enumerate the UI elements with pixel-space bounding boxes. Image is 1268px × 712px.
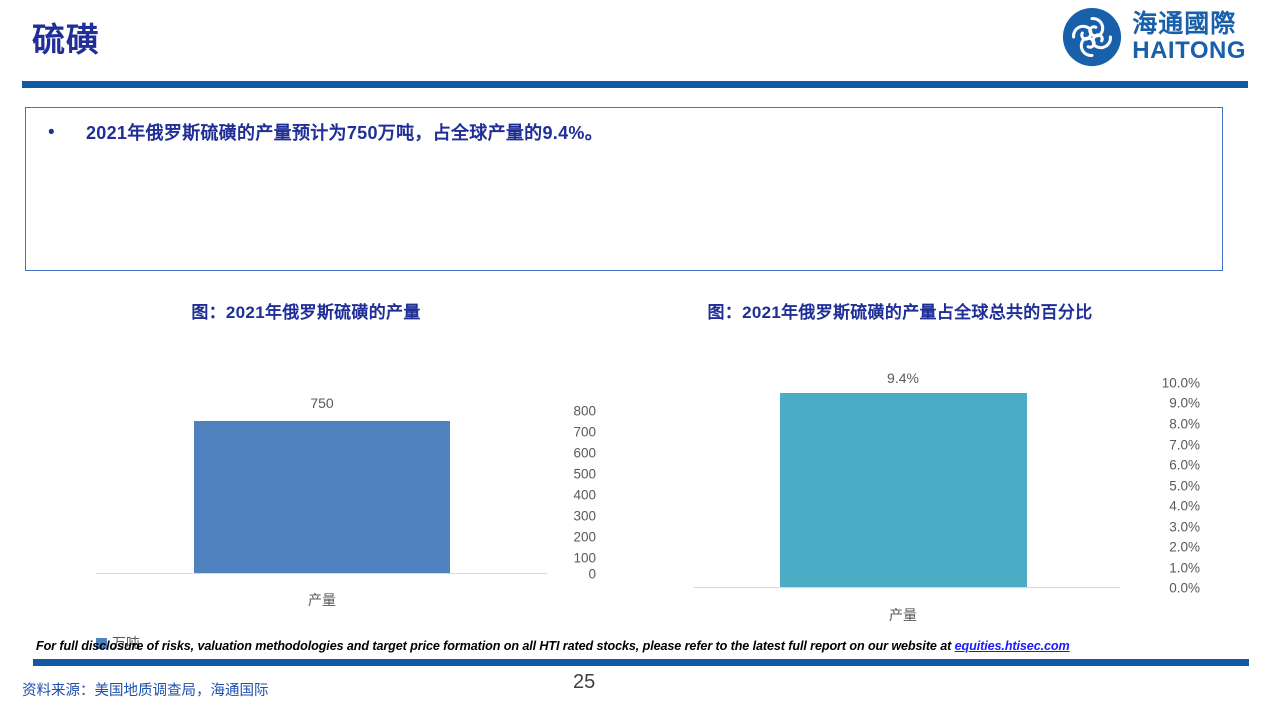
plot-area-global-share: 10.0% 9.0% 8.0% 7.0% 6.0% 5.0% 4.0% 3.0%… [600, 323, 1200, 623]
disclaimer-text: For full disclosure of risks, valuation … [36, 639, 1236, 653]
bar-label-global-share: 9.4% [887, 370, 919, 386]
bar-global-share [780, 393, 1027, 587]
chart-title-production: 图：2021年俄罗斯硫磺的产量 [26, 298, 586, 323]
ytick-production-0: 800 [538, 404, 596, 419]
bar-production [194, 421, 450, 573]
source-note: 资料来源：美国地质调查局，海通国际 [22, 679, 269, 700]
ytick-production-7: 100 [538, 551, 596, 566]
xlabel-production: 产量 [308, 590, 336, 610]
page-title: 硫磺 [32, 18, 100, 62]
plot-area-production: 800 700 600 500 400 300 200 100 0 750 产量… [26, 323, 596, 623]
ytick-share-6: 4.0% [1118, 499, 1200, 514]
ytick-share-4: 6.0% [1118, 458, 1200, 473]
slide: 硫磺 海通國際 HAITONG • 2021年俄罗斯硫磺的产量预计为750万吨，… [0, 0, 1268, 712]
bar-label-production: 750 [310, 395, 333, 411]
haitong-emblem-icon [1061, 6, 1123, 68]
haitong-logo: 海通國際 HAITONG [1061, 6, 1246, 68]
ytick-share-3: 7.0% [1118, 438, 1200, 453]
chart-global-share: 图：2021年俄罗斯硫磺的产量占全球总共的百分比 10.0% 9.0% 8.0%… [600, 298, 1200, 638]
page-number: 25 [573, 671, 595, 694]
footer-divider [33, 659, 1249, 666]
axis-baseline-share [694, 587, 1120, 588]
ytick-production-8: 0 [538, 567, 596, 582]
ytick-share-9: 1.0% [1118, 561, 1200, 576]
axis-baseline-production [96, 573, 547, 574]
ytick-production-6: 200 [538, 530, 596, 545]
bullet-marker-icon: • [48, 118, 66, 148]
ytick-share-0: 10.0% [1118, 376, 1200, 391]
ytick-share-1: 9.0% [1118, 396, 1200, 411]
logo-text-en: HAITONG [1132, 39, 1246, 63]
ytick-share-2: 8.0% [1118, 417, 1200, 432]
xlabel-global-share: 产量 [889, 605, 917, 625]
ytick-share-8: 2.0% [1118, 540, 1200, 555]
header-divider [22, 81, 1248, 88]
bullet-text: 2021年俄罗斯硫磺的产量预计为750万吨，占全球产量的9.4%。 [66, 118, 603, 148]
disclaimer-link[interactable]: equities.htisec.com [955, 639, 1070, 653]
ytick-production-1: 700 [538, 425, 596, 440]
disclaimer-prefix: For full disclosure of risks, valuation … [36, 639, 955, 653]
content-box: • 2021年俄罗斯硫磺的产量预计为750万吨，占全球产量的9.4%。 [25, 107, 1223, 271]
ytick-production-2: 600 [538, 446, 596, 461]
bullet-item: • 2021年俄罗斯硫磺的产量预计为750万吨，占全球产量的9.4%。 [26, 108, 1222, 148]
ytick-production-5: 300 [538, 509, 596, 524]
chart-title-global-share: 图：2021年俄罗斯硫磺的产量占全球总共的百分比 [600, 298, 1200, 323]
logo-text-cn: 海通國際 [1132, 12, 1246, 37]
ytick-production-4: 400 [538, 488, 596, 503]
ytick-share-7: 3.0% [1118, 520, 1200, 535]
ytick-production-3: 500 [538, 467, 596, 482]
chart-production: 图：2021年俄罗斯硫磺的产量 800 700 600 500 400 300 … [26, 298, 596, 638]
ytick-share-5: 5.0% [1118, 479, 1200, 494]
ytick-share-10: 0.0% [1118, 581, 1200, 596]
